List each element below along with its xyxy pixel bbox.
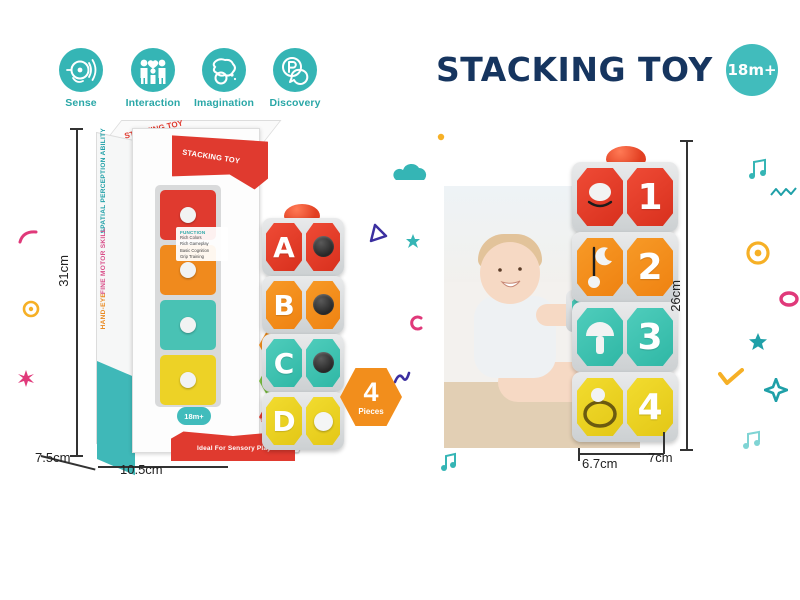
box-window-tray xyxy=(155,185,221,407)
check-confetti-icon xyxy=(718,368,744,388)
knob-icon xyxy=(180,317,196,333)
box-age-badge: 18m+ xyxy=(177,407,211,425)
poster-canvas: Sense Interaction xyxy=(0,0,800,600)
dim-box-height: 31cm xyxy=(56,255,71,287)
shape-face xyxy=(577,308,623,366)
letter-block-c: C xyxy=(262,334,344,392)
letter-face: C xyxy=(266,339,302,387)
photo-baby-head xyxy=(480,242,540,304)
feature-label: Interaction xyxy=(116,97,190,109)
age-badge: 18m+ xyxy=(726,44,778,96)
triangle-confetti-icon xyxy=(367,222,391,244)
star-confetti-icon xyxy=(748,332,768,352)
number-face: 4 xyxy=(627,378,673,436)
ring-confetti-icon xyxy=(778,290,800,308)
shape-face xyxy=(577,238,623,296)
dial-face xyxy=(306,223,340,271)
dim-line-box-width xyxy=(98,466,228,468)
dim-tick xyxy=(70,455,83,457)
imagination-icon xyxy=(202,48,246,92)
wave-confetti-icon xyxy=(770,185,798,199)
star-confetti-icon xyxy=(405,233,421,249)
musicnote-confetti-icon xyxy=(440,452,458,472)
feature-sense: Sense xyxy=(44,48,118,109)
dim-line-toy-height xyxy=(686,140,688,450)
feature-label: Imagination xyxy=(187,97,261,109)
discovery-icon xyxy=(273,48,317,92)
shape-face xyxy=(577,378,623,436)
dim-toy-depth: 7cm xyxy=(648,450,673,465)
sense-icon xyxy=(59,48,103,92)
dim-box-width: 10.5cm xyxy=(120,462,163,477)
letter-face: A xyxy=(266,223,302,271)
number-stack: 1 2 3 4 xyxy=(572,146,682,446)
function-item: Grip Training xyxy=(180,254,224,260)
knob-icon xyxy=(180,207,196,223)
sparkle-confetti-icon xyxy=(764,378,788,402)
dial-face xyxy=(306,339,340,387)
dim-tick xyxy=(680,140,693,142)
letter-stack: A B C D xyxy=(258,204,348,454)
number-face: 1 xyxy=(627,168,673,226)
box-side-text-spatial: SPATIAL PERCEPTION ABILITY xyxy=(100,128,108,233)
dim-toy-height: 26cm xyxy=(668,280,683,312)
letter-face: B xyxy=(266,281,302,329)
dim-line-box-height xyxy=(76,128,78,456)
shape-face xyxy=(577,168,623,226)
box-side-band xyxy=(97,361,135,475)
letter-block-d: D xyxy=(262,392,344,450)
letter-block-b: B xyxy=(262,276,344,334)
feature-imagination: Imagination xyxy=(187,48,261,109)
cross-confetti-icon xyxy=(16,368,36,388)
knob-icon xyxy=(314,412,333,431)
cloud-confetti-icon xyxy=(390,160,430,182)
c-shape-confetti-icon xyxy=(410,314,424,332)
dot-confetti-icon xyxy=(436,132,446,142)
knob-icon xyxy=(180,372,196,388)
dim-tick xyxy=(578,448,580,461)
dial-face xyxy=(306,281,340,329)
dial-icon xyxy=(313,236,334,257)
squiggle-confetti-icon xyxy=(393,370,411,386)
letter-block-a: A xyxy=(262,218,344,276)
box-block-teal xyxy=(160,300,216,350)
box-side-text-hand-eye: HAND-EYE xyxy=(100,293,108,329)
pieces-number: 4 xyxy=(363,379,378,406)
target-confetti-icon xyxy=(745,240,771,266)
knob-icon xyxy=(180,262,196,278)
page-title: STACKING TOY xyxy=(436,50,713,89)
number-block-1: 1 xyxy=(572,162,678,232)
target-confetti-icon xyxy=(22,300,40,318)
pieces-label: Pieces xyxy=(358,407,383,416)
feature-interaction: Interaction xyxy=(116,48,190,109)
dim-tick xyxy=(680,449,693,451)
interaction-icon xyxy=(131,48,175,92)
number-face: 3 xyxy=(627,308,673,366)
number-face: 2 xyxy=(627,238,673,296)
dial-icon xyxy=(313,294,334,315)
box-side-text-fine-motor: FINE MOTOR SKILL xyxy=(100,228,108,294)
feature-label: Sense xyxy=(44,97,118,109)
dial-icon xyxy=(313,352,334,373)
dim-box-depth: 7.5cm xyxy=(35,450,70,465)
number-block-3: 3 xyxy=(572,302,678,372)
box-block-yellow xyxy=(160,355,216,405)
musicnote-confetti-icon xyxy=(748,158,768,180)
dim-tick xyxy=(70,128,83,130)
knob-face xyxy=(306,397,340,445)
product-package: STACKING TOY SPATIAL PERCEPTION ABILITY … xyxy=(96,118,264,463)
musicnote-confetti-icon xyxy=(742,430,762,450)
function-callout: FUNCTION Rich Colors Rich Gameplay Basic… xyxy=(176,227,228,261)
dim-toy-width: 6.7cm xyxy=(582,456,617,471)
number-block-2: 2 xyxy=(572,232,678,302)
feature-discovery: Discovery xyxy=(258,48,332,109)
letter-face: D xyxy=(266,397,302,445)
arc-confetti-icon xyxy=(18,228,38,244)
feature-label: Discovery xyxy=(258,97,332,109)
